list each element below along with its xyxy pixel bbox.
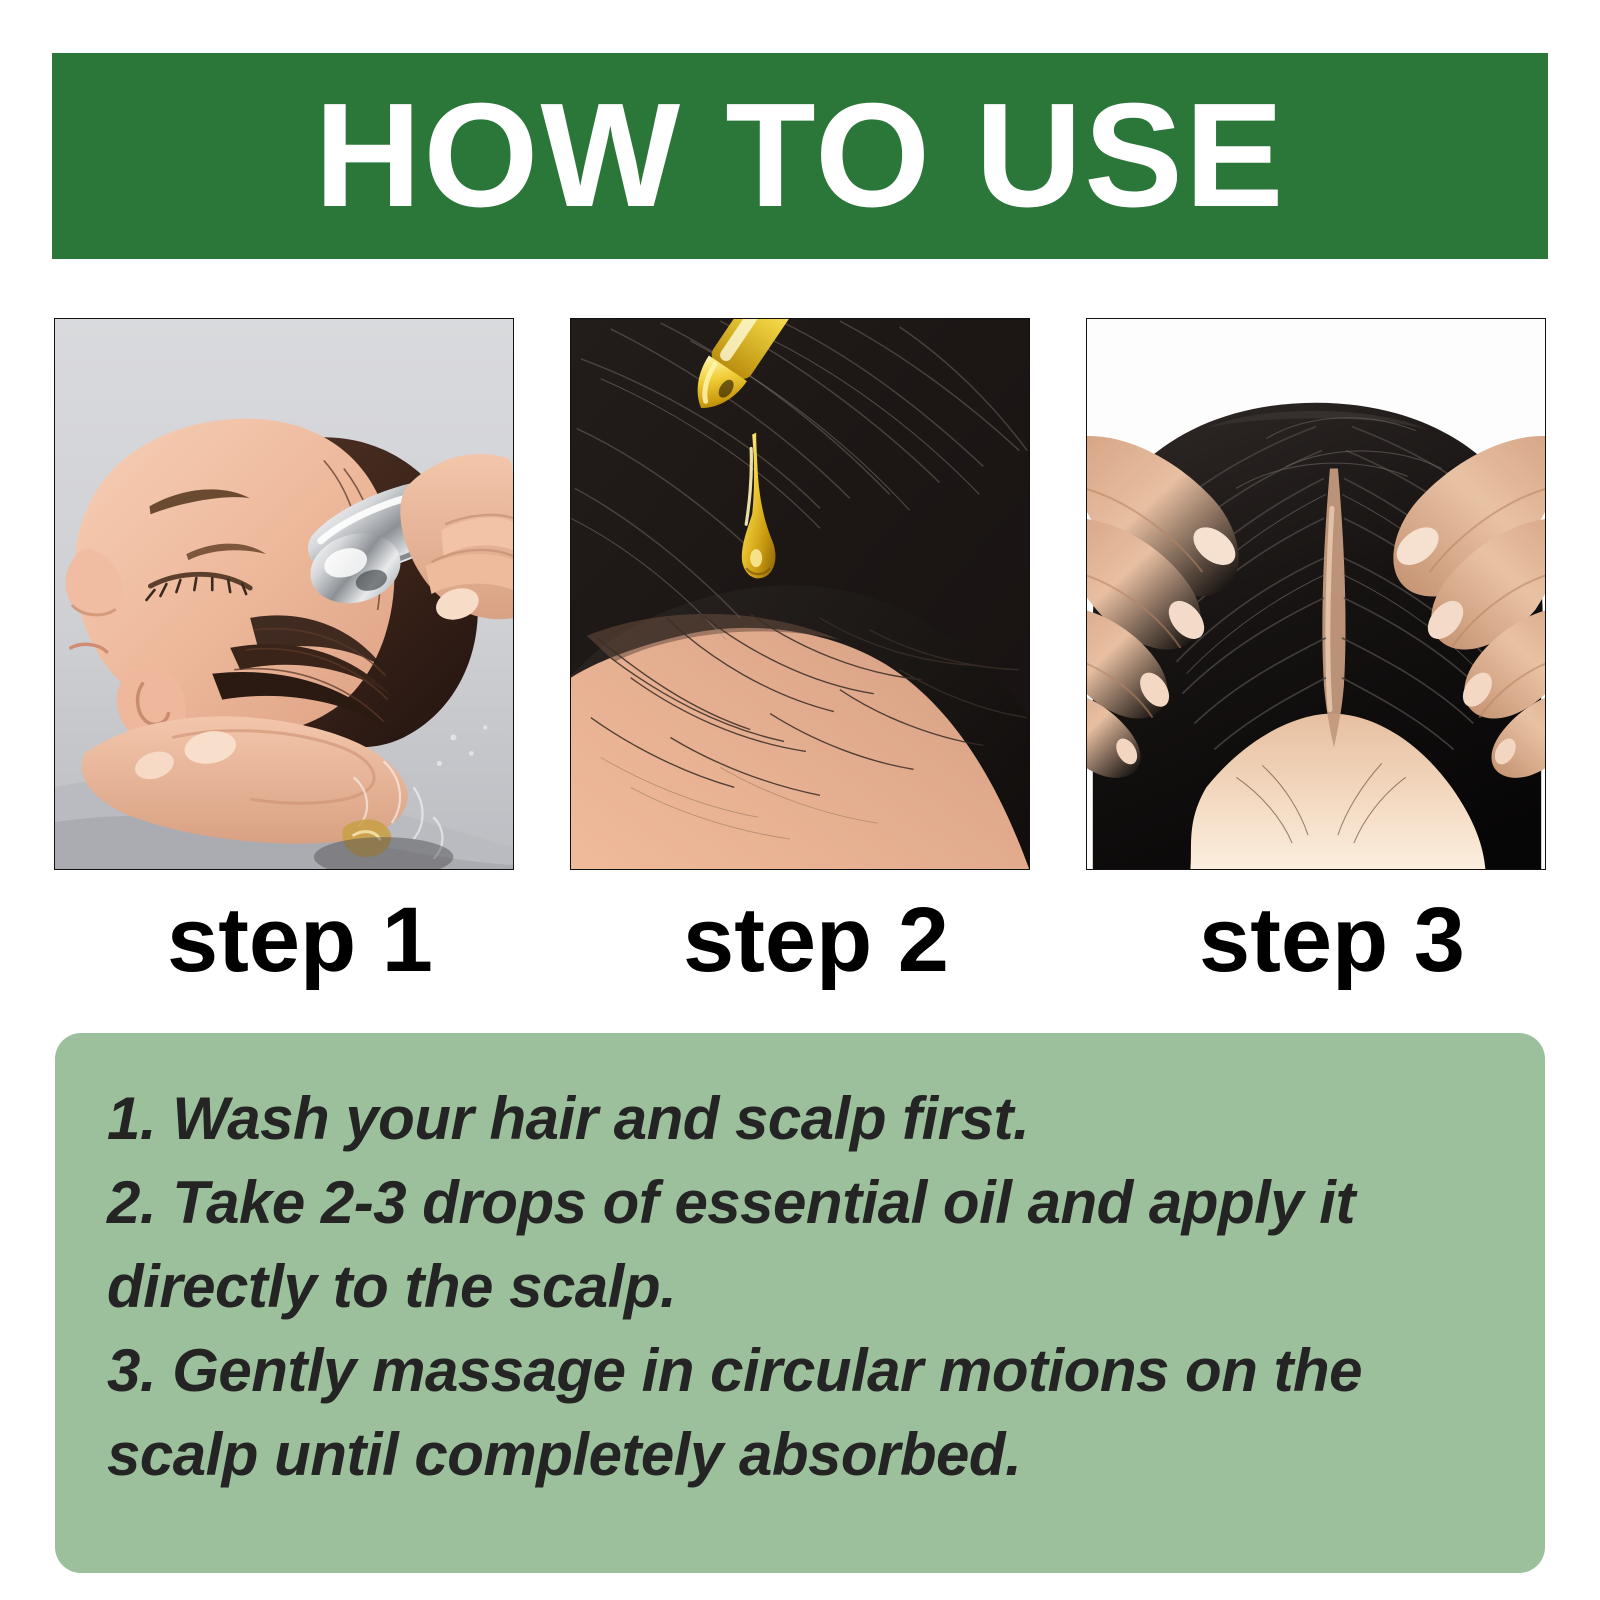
instruction-line-5: scalp until completely absorbed. <box>107 1413 1493 1497</box>
step-card-3 <box>1086 318 1546 870</box>
page-title: HOW TO USE <box>314 82 1285 230</box>
step-images-row <box>54 318 1546 870</box>
hair-washing-at-salon-basin-photo <box>54 318 514 870</box>
step-card-1 <box>54 318 514 870</box>
step-captions-row: step 1 step 2 step 3 <box>54 880 1546 1000</box>
step-3-illustration <box>1087 319 1545 869</box>
step-caption-3-label: step 3 <box>1199 894 1465 986</box>
step-caption-2-label: step 2 <box>683 894 949 986</box>
instructions-box: 1. Wash your hair and scalp first. 2. Ta… <box>55 1033 1545 1573</box>
instruction-line-3: directly to the scalp. <box>107 1245 1493 1329</box>
step-caption-1-label: step 1 <box>167 894 433 986</box>
instruction-line-4: 3. Gently massage in circular motions on… <box>107 1329 1493 1413</box>
step-1-illustration <box>55 319 513 869</box>
scalp-massage-hands-photo <box>1086 318 1546 870</box>
header-banner: HOW TO USE <box>52 53 1548 259</box>
step-caption-1: step 1 <box>54 880 514 1000</box>
oil-dropper-on-scalp-photo <box>570 318 1030 870</box>
step-card-2 <box>570 318 1030 870</box>
step-caption-3: step 3 <box>1086 880 1546 1000</box>
step-caption-2: step 2 <box>570 880 1030 1000</box>
instruction-line-2: 2. Take 2-3 drops of essential oil and a… <box>107 1161 1493 1245</box>
step-2-illustration <box>571 319 1029 869</box>
instruction-line-1: 1. Wash your hair and scalp first. <box>107 1077 1493 1161</box>
